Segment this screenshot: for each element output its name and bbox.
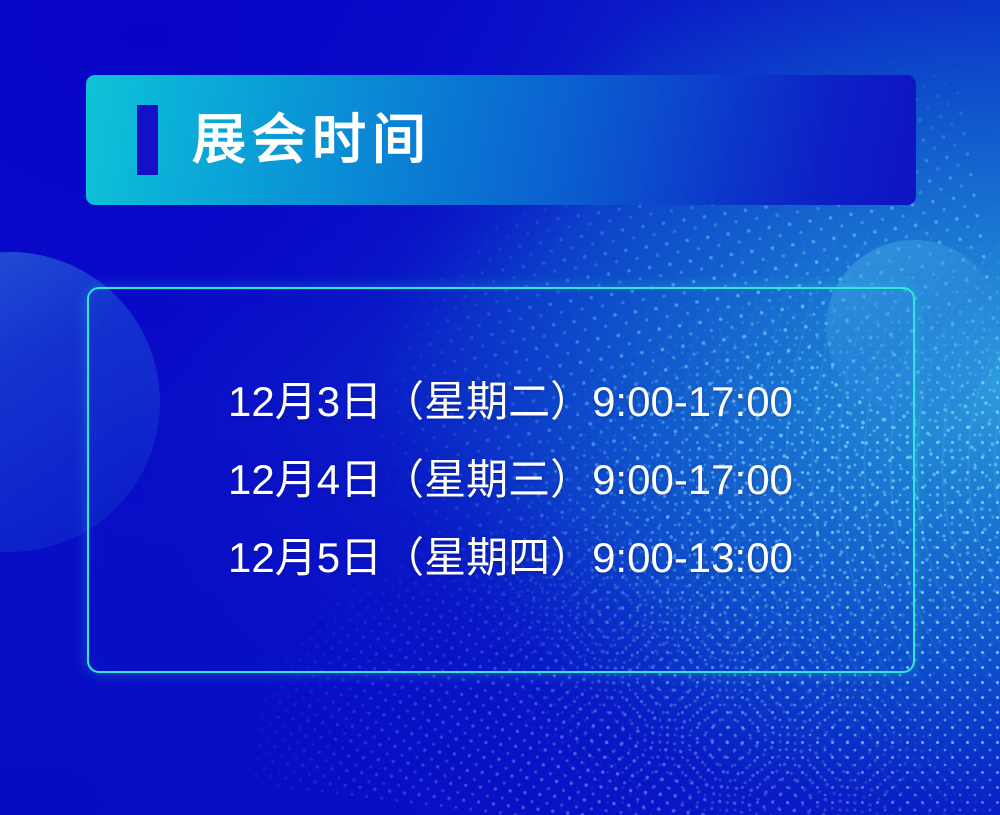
poster-canvas: 展会时间 12月3日（星期二）9:00-17:00 12月4日（星期三）9:00… <box>0 0 1000 815</box>
page-title: 展会时间 <box>192 113 432 167</box>
schedule-item: 12月3日（星期二）9:00-17:00 <box>228 363 913 441</box>
header-banner: 展会时间 <box>86 75 916 205</box>
schedule-item: 12月5日（星期四）9:00-13:00 <box>228 519 913 597</box>
schedule-item: 12月4日（星期三）9:00-17:00 <box>228 441 913 519</box>
header-accent-bar-icon <box>137 105 158 175</box>
schedule-list: 12月3日（星期二）9:00-17:00 12月4日（星期三）9:00-17:0… <box>89 363 913 597</box>
schedule-card: 12月3日（星期二）9:00-17:00 12月4日（星期三）9:00-17:0… <box>87 287 915 673</box>
